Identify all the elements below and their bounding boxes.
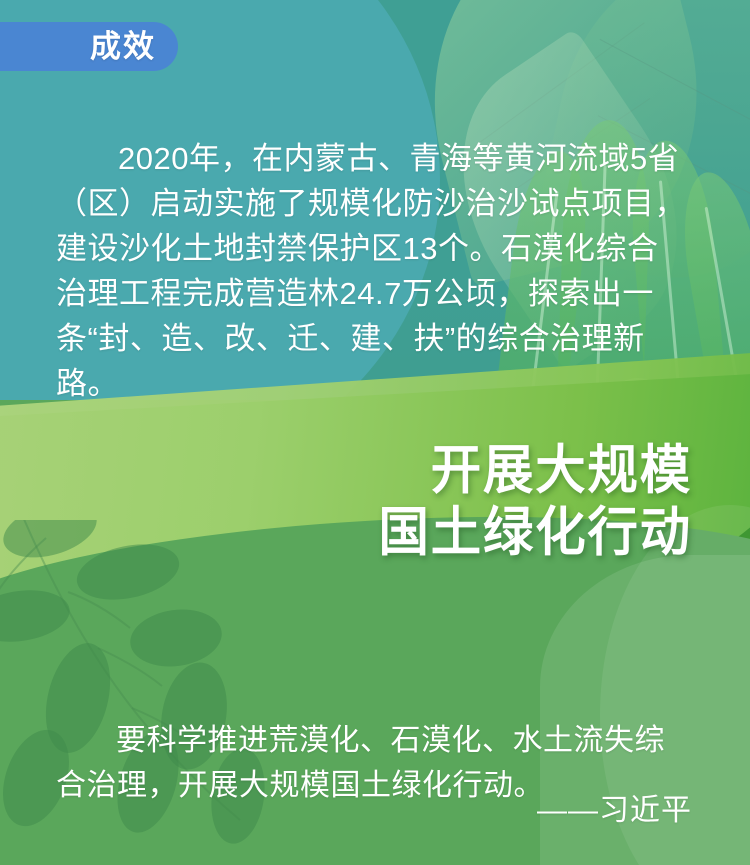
poster-canvas: 成效 2020年，在内蒙古、青海等黄河流域5省（区）启动实施了规模化防沙治沙试点… (0, 0, 750, 865)
headline: 开展大规模 国土绿化行动 (379, 440, 693, 564)
section-badge-label: 成效 (90, 31, 156, 62)
headline-line-2: 国土绿化行动 (379, 502, 693, 564)
quote-attribution: ——习近平 (537, 785, 692, 829)
poster-content: 成效 2020年，在内蒙古、青海等黄河流域5省（区）启动实施了规模化防沙治沙试点… (0, 0, 750, 865)
headline-line-1: 开展大规模 (379, 440, 693, 502)
section-badge: 成效 (0, 22, 178, 71)
top-paragraph: 2020年，在内蒙古、青海等黄河流域5省（区）启动实施了规模化防沙治沙试点项目，… (56, 136, 686, 406)
